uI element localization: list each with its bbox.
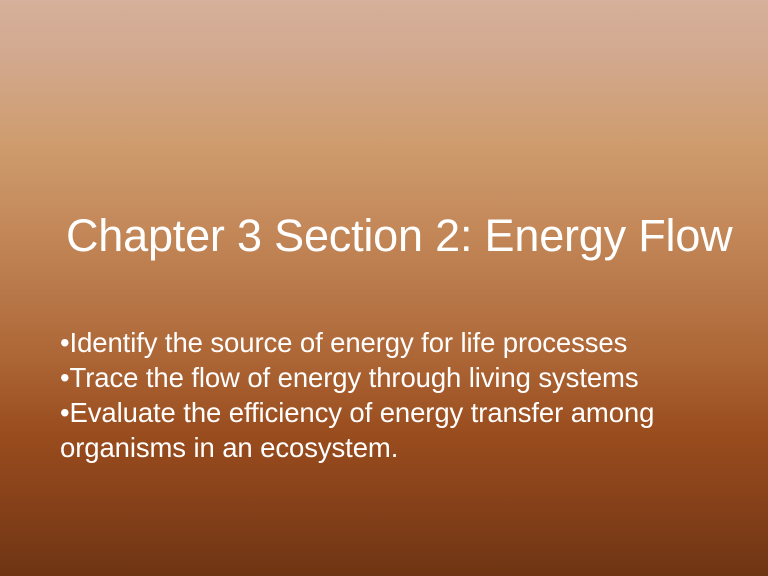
list-item: •Evaluate the efficiency of energy trans… [60,395,740,465]
list-item-label: Trace the flow of energy through living … [70,362,639,393]
list-item-label: Evaluate the efficiency of energy transf… [60,397,654,463]
body-placeholder: •Identify the source of energy for life … [60,325,740,465]
list-item: •Trace the flow of energy through living… [60,360,740,395]
list-item-label: Identify the source of energy for life p… [70,327,628,358]
bullet-point-icon: • [60,397,70,428]
page-title: Chapter 3 Section 2: Energy Flow [66,208,726,264]
title-placeholder: Chapter 3 Section 2: Energy Flow [66,208,726,264]
list-item: •Identify the source of energy for life … [60,325,740,360]
bullet-point-icon: • [60,327,70,358]
bullet-list: •Identify the source of energy for life … [60,325,740,465]
bullet-point-icon: • [60,362,70,393]
slide-canvas: Chapter 3 Section 2: Energy Flow •Identi… [0,0,768,576]
